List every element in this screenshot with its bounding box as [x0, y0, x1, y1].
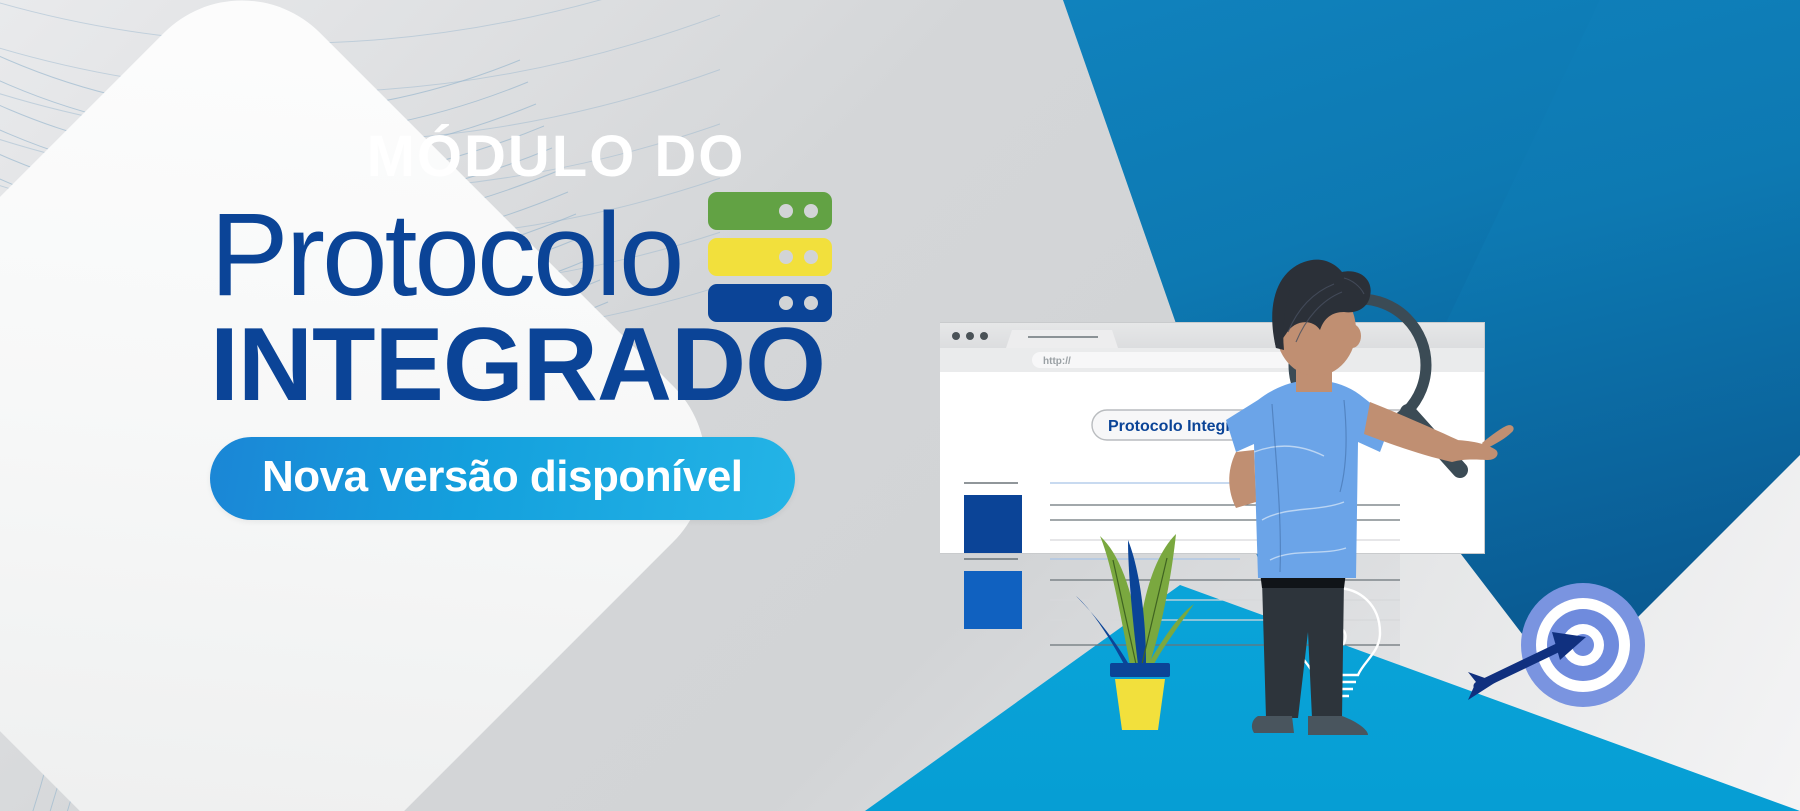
address-bar-text: http:// [1043, 356, 1071, 367]
eyebrow-text: MÓDULO DO [210, 128, 910, 186]
promo-banner: MÓDULO DO Protocolo INTEGRADO Nova ver [0, 0, 1800, 811]
page-subtitle: INTEGRADO [210, 316, 910, 415]
pot-body [1115, 679, 1165, 730]
stack-bar-green [708, 192, 832, 230]
stack-dot [779, 204, 793, 218]
result-list [964, 483, 1022, 629]
result-thumbnail [964, 571, 1022, 629]
stack-dot [804, 204, 818, 218]
server-stack-icon [708, 192, 832, 322]
pot-rim [1110, 663, 1170, 677]
stack-bar-yellow [708, 238, 832, 276]
result-thumbnail [964, 495, 1022, 553]
headline-block: MÓDULO DO Protocolo INTEGRADO Nova ver [210, 128, 910, 520]
browser-window: http:// Protocolo Integrado [940, 323, 1484, 645]
hero-illustration: http:// Protocolo Integrado [940, 0, 1800, 811]
stack-dot [779, 250, 793, 264]
browser-tab [1006, 330, 1118, 348]
stack-dot [804, 250, 818, 264]
target-with-arrow-icon [1468, 583, 1645, 707]
title-row: Protocolo [210, 188, 910, 322]
traffic-light-dots [952, 332, 988, 340]
page-title: Protocolo [210, 201, 682, 310]
new-version-cta-button[interactable]: Nova versão disponível [210, 437, 795, 520]
potted-plant [1076, 534, 1194, 730]
